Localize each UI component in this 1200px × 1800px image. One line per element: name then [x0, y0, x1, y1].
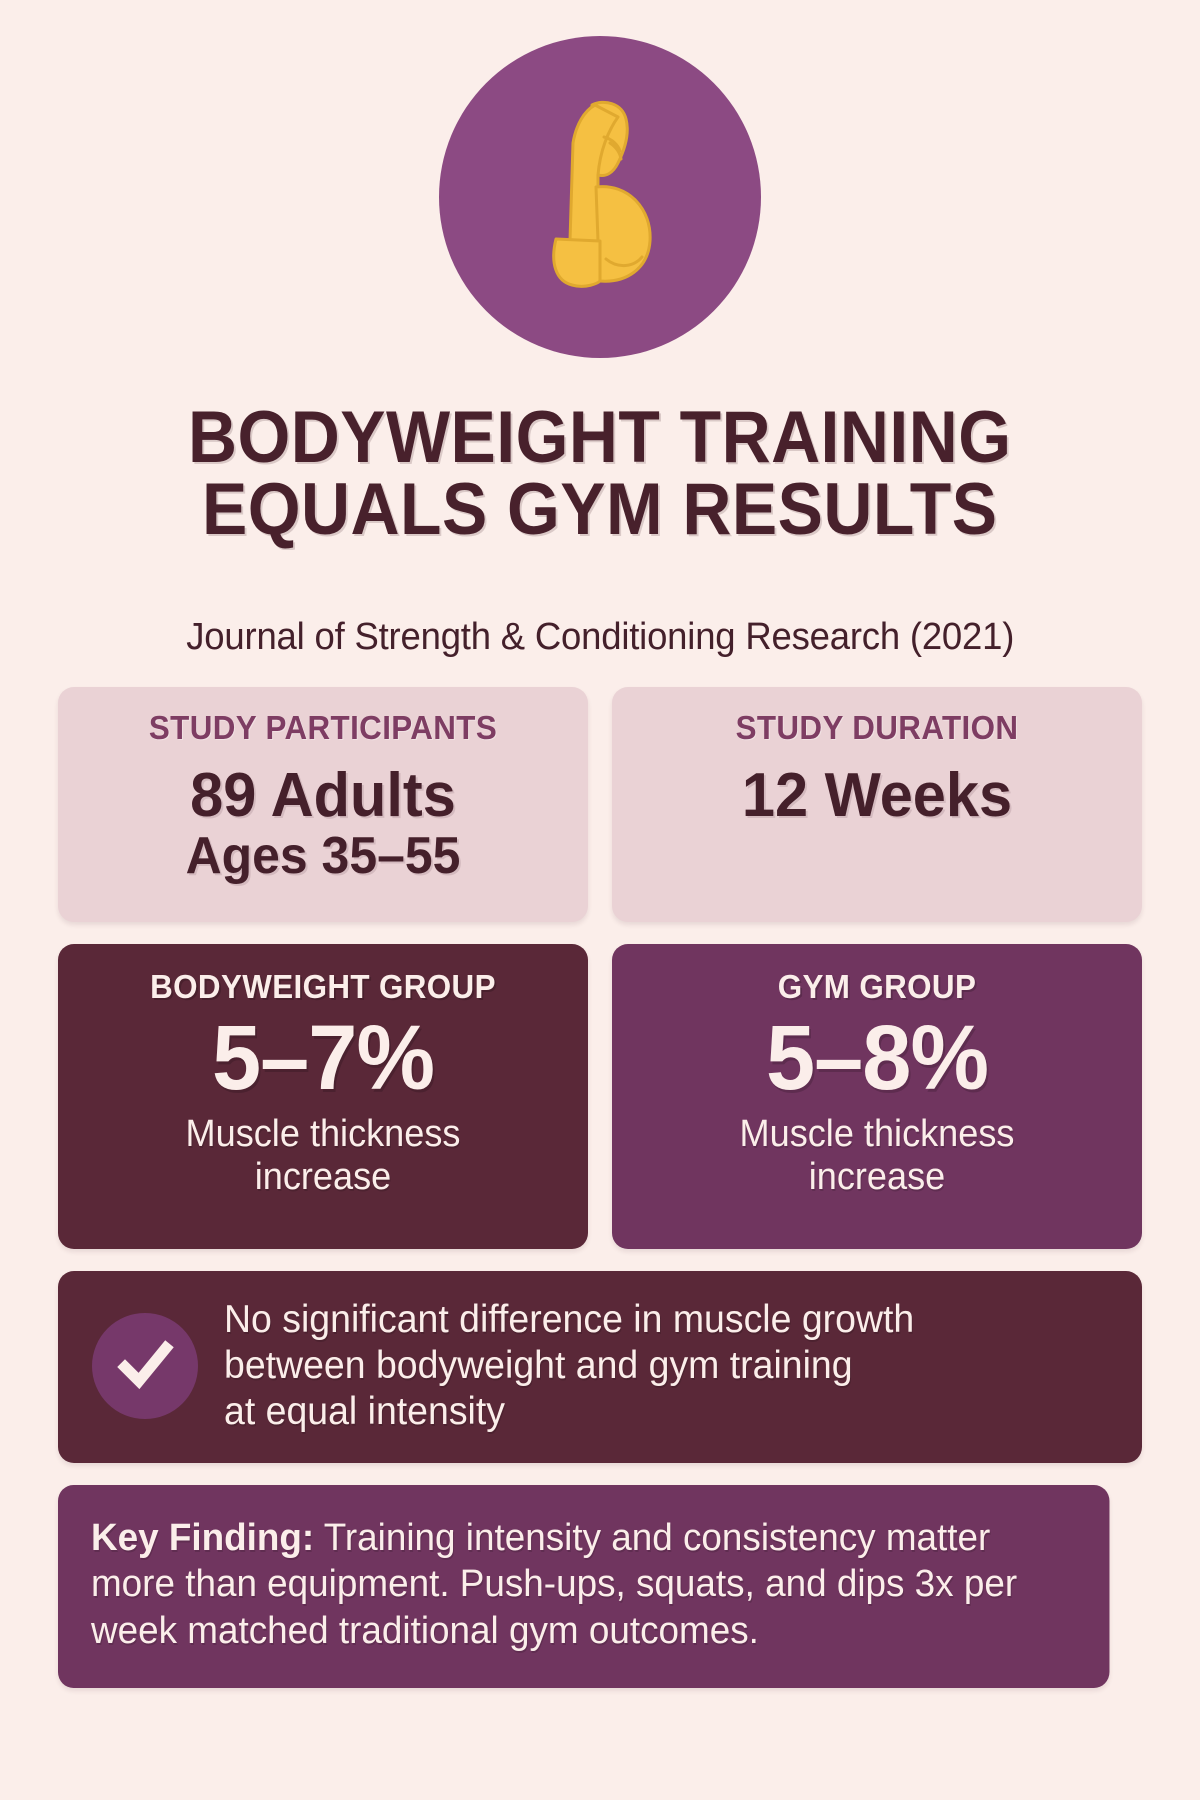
- stat-card-duration: STUDY DURATION 12 Weeks: [612, 687, 1142, 922]
- page-title: BODYWEIGHT TRAINING EQUALS GYM RESULTS: [188, 402, 1011, 545]
- conclusion-line-2: between bodyweight and gym training: [224, 1344, 853, 1387]
- source-subtitle: Journal of Strength & Conditioning Resea…: [186, 616, 1014, 659]
- result-card-bodyweight-group: BODYWEIGHT GROUP 5–7% Muscle thickness i…: [58, 944, 588, 1249]
- result-value-gym: 5–8%: [640, 1010, 1114, 1107]
- result-note-gym-line1: Muscle thickness: [740, 1113, 1015, 1155]
- check-icon: [92, 1313, 198, 1419]
- stats-grid: STUDY PARTICIPANTS 89 Adults Ages 35–55 …: [58, 687, 1142, 1249]
- result-note-bodyweight-line2: increase: [255, 1156, 391, 1198]
- conclusion-text: No significant difference in muscle grow…: [224, 1297, 914, 1435]
- stat-label-duration: STUDY DURATION: [642, 709, 1111, 747]
- result-note-bodyweight-line1: Muscle thickness: [186, 1113, 461, 1155]
- hero-badge: [439, 36, 761, 358]
- stat-value-participants: 89 Adults Ages 35–55: [86, 763, 560, 884]
- stat-value-participants-sub: Ages 35–55: [86, 829, 560, 884]
- stat-card-participants: STUDY PARTICIPANTS 89 Adults Ages 35–55: [58, 687, 588, 922]
- result-value-bodyweight: 5–7%: [86, 1010, 560, 1107]
- conclusion-line-3: at equal intensity: [224, 1390, 505, 1433]
- title-line-1: BODYWEIGHT TRAINING: [188, 402, 1011, 474]
- result-label-gym: GYM GROUP: [642, 968, 1111, 1006]
- stat-value-participants-main: 89 Adults: [190, 761, 456, 830]
- result-note-gym: Muscle thickness increase: [642, 1113, 1111, 1200]
- key-finding-lead: Key Finding:: [91, 1517, 314, 1559]
- stat-value-duration-main: 12 Weeks: [742, 761, 1012, 830]
- flexed-biceps-icon: [500, 91, 700, 303]
- stat-label-participants: STUDY PARTICIPANTS: [88, 709, 557, 747]
- result-label-bodyweight: BODYWEIGHT GROUP: [88, 968, 557, 1006]
- conclusion-line-1: No significant difference in muscle grow…: [224, 1298, 914, 1341]
- conclusion-banner: No significant difference in muscle grow…: [58, 1271, 1142, 1463]
- stat-value-duration: 12 Weeks: [640, 763, 1114, 829]
- key-finding-box: Key Finding: Training intensity and cons…: [58, 1485, 1109, 1688]
- title-line-2: EQUALS GYM RESULTS: [188, 474, 1011, 546]
- result-note-gym-line2: increase: [809, 1156, 945, 1198]
- result-note-bodyweight: Muscle thickness increase: [88, 1113, 557, 1200]
- result-card-gym-group: GYM GROUP 5–8% Muscle thickness increase: [612, 944, 1142, 1249]
- infographic-poster: BODYWEIGHT TRAINING EQUALS GYM RESULTS J…: [0, 0, 1200, 1800]
